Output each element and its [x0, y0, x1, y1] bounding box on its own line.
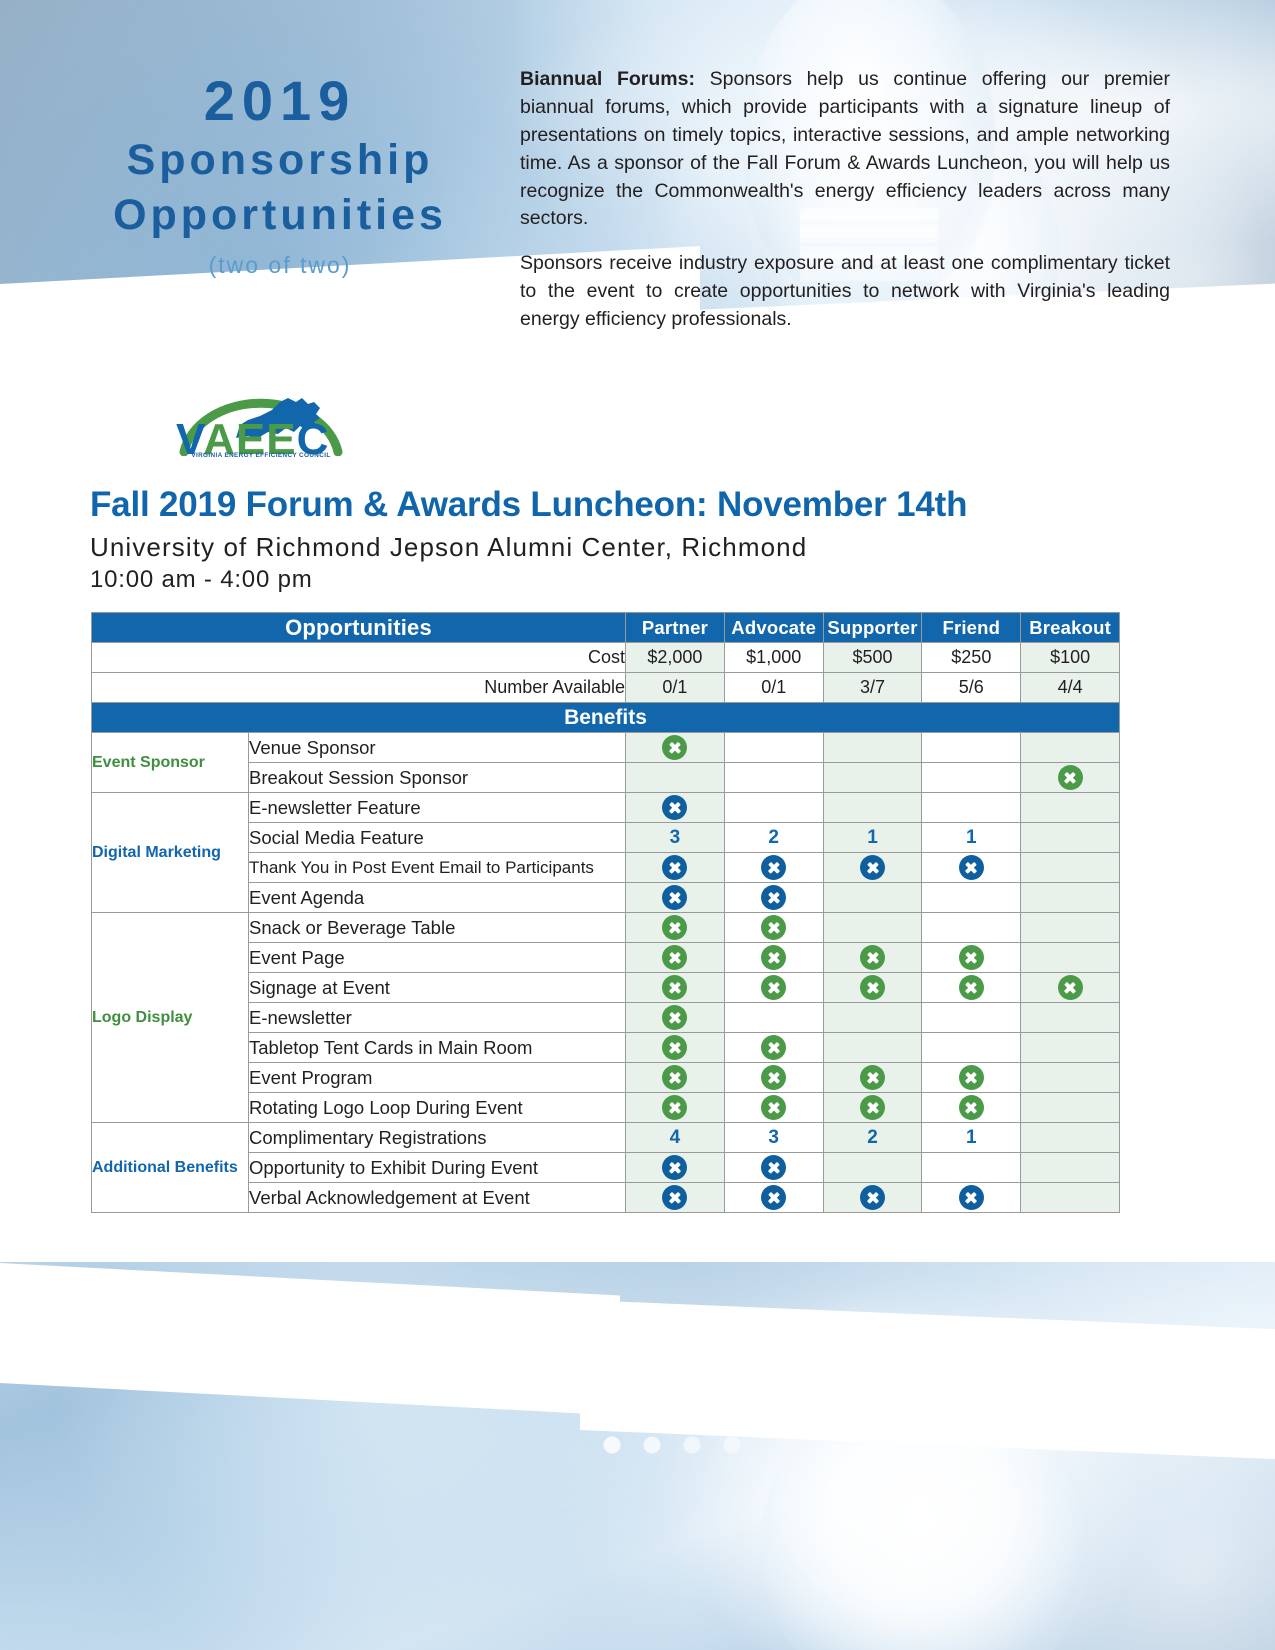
benefit-cell [823, 973, 922, 1003]
check-badge-icon [761, 1035, 786, 1060]
title-line-2: Opportunities [60, 190, 500, 241]
sponsorship-table-wrap: Opportunities Partner Advocate Supporter… [91, 612, 1119, 1213]
benefit-cell [922, 1153, 1021, 1183]
benefit-cell [823, 1003, 922, 1033]
avail-friend: 5/6 [922, 673, 1021, 703]
benefit-label: Complimentary Registrations [249, 1123, 626, 1153]
event-heading-block: Fall 2019 Forum & Awards Luncheon: Novem… [90, 484, 1150, 595]
cost-row: Cost $2,000 $1,000 $500 $250 $100 [92, 643, 1120, 673]
benefit-cell [1021, 913, 1120, 943]
benefit-cell [626, 1033, 725, 1063]
check-badge-icon [662, 945, 687, 970]
benefit-cell [724, 1033, 823, 1063]
benefit-cell [823, 883, 922, 913]
benefit-cell [724, 913, 823, 943]
table-row: Event SponsorVenue Sponsor [92, 733, 1120, 763]
check-badge-icon [860, 945, 885, 970]
check-badge-icon [662, 1035, 687, 1060]
benefit-cell [922, 1183, 1021, 1213]
table-body: Cost $2,000 $1,000 $500 $250 $100 Number… [92, 643, 1120, 1213]
check-badge-icon [860, 1185, 885, 1210]
benefit-cell [724, 1003, 823, 1033]
benefit-cell [922, 763, 1021, 793]
benefit-cell [1021, 883, 1120, 913]
benefit-label: Social Media Feature [249, 823, 626, 853]
check-badge-icon [1058, 975, 1083, 1000]
cost-partner: $2,000 [626, 643, 725, 673]
benefit-label: Opportunity to Exhibit During Event [249, 1153, 626, 1183]
check-badge-icon [1058, 765, 1083, 790]
benefit-label: Event Agenda [249, 883, 626, 913]
benefit-cell [1021, 973, 1120, 1003]
benefit-cell [823, 853, 922, 883]
number-available-row: Number Available 0/1 0/1 3/7 5/6 4/4 [92, 673, 1120, 703]
benefit-count: 2 [867, 1127, 878, 1148]
event-time: 10:00 am - 4:00 pm [90, 566, 1150, 595]
benefit-label: Snack or Beverage Table [249, 913, 626, 943]
check-badge-icon [959, 945, 984, 970]
benefit-cell [1021, 763, 1120, 793]
benefit-cell [1021, 733, 1120, 763]
check-badge-icon [662, 855, 687, 880]
benefit-cell [922, 1063, 1021, 1093]
benefit-cell [823, 1093, 922, 1123]
table-row: Additional BenefitsComplimentary Registr… [92, 1123, 1120, 1153]
benefit-cell [922, 733, 1021, 763]
benefit-label: Rotating Logo Loop During Event [249, 1093, 626, 1123]
benefit-label: Verbal Acknowledgement at Event [249, 1183, 626, 1213]
avail-breakout: 4/4 [1021, 673, 1120, 703]
benefit-label: Tabletop Tent Cards in Main Room [249, 1033, 626, 1063]
cost-breakout: $100 [1021, 643, 1120, 673]
cost-advocate: $1,000 [724, 643, 823, 673]
check-badge-icon [662, 1185, 687, 1210]
check-badge-icon [959, 855, 984, 880]
benefit-cell: 2 [823, 1123, 922, 1153]
benefit-cell [1021, 1153, 1120, 1183]
benefit-cell: 3 [724, 1123, 823, 1153]
benefit-cell [922, 913, 1021, 943]
benefit-label: Venue Sponsor [249, 733, 626, 763]
check-badge-icon [761, 1065, 786, 1090]
table-header-row: Opportunities Partner Advocate Supporter… [92, 613, 1120, 643]
check-badge-icon [662, 915, 687, 940]
benefit-cell [922, 1093, 1021, 1123]
check-badge-icon [959, 1185, 984, 1210]
avail-supporter: 3/7 [823, 673, 922, 703]
header-tier-partner: Partner [626, 613, 725, 643]
check-badge-icon [761, 855, 786, 880]
check-badge-icon [761, 945, 786, 970]
header-tier-supporter: Supporter [823, 613, 922, 643]
benefit-cell [1021, 1063, 1120, 1093]
benefit-cell [922, 943, 1021, 973]
table-row: Logo DisplaySnack or Beverage Table [92, 913, 1120, 943]
benefit-cell [1021, 943, 1120, 973]
benefit-cell [1021, 1033, 1120, 1063]
benefit-label: Thank You in Post Event Email to Partici… [249, 853, 626, 883]
benefit-count: 1 [867, 827, 878, 848]
benefit-cell [823, 763, 922, 793]
benefit-cell: 2 [724, 823, 823, 853]
benefit-cell [823, 1183, 922, 1213]
check-badge-icon [959, 975, 984, 1000]
check-badge-icon [761, 1095, 786, 1120]
benefit-cell [724, 1063, 823, 1093]
header-tier-advocate: Advocate [724, 613, 823, 643]
benefit-cell [1021, 1123, 1120, 1153]
benefit-cell [724, 883, 823, 913]
benefit-category-logo-display: Logo Display [92, 913, 249, 1123]
benefit-cell [724, 1183, 823, 1213]
benefit-cell: 4 [626, 1123, 725, 1153]
intro-column: Biannual Forums: Sponsors help us contin… [520, 66, 1170, 351]
check-badge-icon [860, 1095, 885, 1120]
avail-advocate: 0/1 [724, 673, 823, 703]
benefit-cell: 1 [823, 823, 922, 853]
benefit-cell [626, 913, 725, 943]
intro-lead-label: Biannual Forums: [520, 68, 695, 90]
benefit-cell [724, 763, 823, 793]
benefit-cell [626, 1153, 725, 1183]
benefit-cell [626, 763, 725, 793]
table-head: Opportunities Partner Advocate Supporter… [92, 613, 1120, 643]
check-badge-icon [761, 1185, 786, 1210]
benefit-cell: 1 [922, 1123, 1021, 1153]
title-line-1: Sponsorship [60, 135, 500, 186]
benefit-cell [724, 793, 823, 823]
benefit-cell [1021, 853, 1120, 883]
check-badge-icon [662, 1005, 687, 1030]
title-year: 2019 [60, 72, 500, 131]
benefit-cell [1021, 823, 1120, 853]
event-title: Fall 2019 Forum & Awards Luncheon: Novem… [90, 484, 1150, 525]
benefit-label: Event Program [249, 1063, 626, 1093]
benefit-category-event-sponsor: Event Sponsor [92, 733, 249, 793]
benefit-cell [823, 943, 922, 973]
benefit-cell [1021, 793, 1120, 823]
benefit-label: Event Page [249, 943, 626, 973]
benefit-cell [626, 1063, 725, 1093]
table-row: Digital MarketingE-newsletter Feature [92, 793, 1120, 823]
event-venue: University of Richmond Jepson Alumni Cen… [90, 532, 1150, 563]
logo-wordmark: VAEEC [176, 415, 329, 456]
logo-tagline: VIRGINIA ENERGY EFFICIENCY COUNCIL [168, 452, 354, 459]
benefit-cell [724, 943, 823, 973]
benefit-cell [1021, 1183, 1120, 1213]
benefit-cell [724, 1153, 823, 1183]
vaeec-logo: VAEEC VIRGINIA ENERGY EFFICIENCY COUNCIL [168, 378, 354, 468]
check-badge-icon [860, 855, 885, 880]
check-badge-icon [761, 885, 786, 910]
benefit-label: E-newsletter Feature [249, 793, 626, 823]
benefit-category-digital-marketing: Digital Marketing [92, 793, 249, 913]
benefit-cell [823, 1063, 922, 1093]
benefit-cell [922, 1033, 1021, 1063]
benefit-cell [823, 793, 922, 823]
benefit-label: Signage at Event [249, 973, 626, 1003]
page-title: 2019 Sponsorship Opportunities (two of t… [60, 72, 500, 279]
avail-partner: 0/1 [626, 673, 725, 703]
benefit-cell [626, 943, 725, 973]
intro-paragraph-1: Biannual Forums: Sponsors help us contin… [520, 66, 1170, 233]
cost-supporter: $500 [823, 643, 922, 673]
benefit-cell [724, 733, 823, 763]
benefit-cell [626, 1003, 725, 1033]
check-badge-icon [761, 915, 786, 940]
vaeec-logo-svg: VAEEC [168, 378, 354, 456]
check-badge-icon [662, 975, 687, 1000]
benefit-cell [823, 1033, 922, 1063]
intro-paragraph-2: Sponsors receive industry exposure and a… [520, 250, 1170, 334]
benefit-cell [823, 733, 922, 763]
benefit-cell [626, 973, 725, 1003]
benefit-cell [626, 883, 725, 913]
benefit-cell [626, 1093, 725, 1123]
benefit-cell [724, 973, 823, 1003]
number-available-label: Number Available [92, 673, 626, 703]
header-opportunities: Opportunities [92, 613, 626, 643]
benefit-count: 2 [768, 827, 779, 848]
cost-friend: $250 [922, 643, 1021, 673]
benefit-cell [626, 793, 725, 823]
benefit-cell [823, 913, 922, 943]
check-badge-icon [662, 1155, 687, 1180]
check-badge-icon [662, 1065, 687, 1090]
benefit-cell [626, 1183, 725, 1213]
benefit-cell [1021, 1093, 1120, 1123]
benefit-cell [724, 853, 823, 883]
benefit-label: Breakout Session Sponsor [249, 763, 626, 793]
header-zone: 2019 Sponsorship Opportunities (two of t… [0, 0, 1275, 352]
benefit-cell [626, 733, 725, 763]
benefit-cell [922, 883, 1021, 913]
benefit-cell [1021, 1003, 1120, 1033]
check-badge-icon [959, 1065, 984, 1090]
check-badge-icon [860, 975, 885, 1000]
check-badge-icon [860, 1065, 885, 1090]
benefit-cell [922, 973, 1021, 1003]
benefits-divider-row: Benefits [92, 703, 1120, 733]
title-subtitle: (two of two) [60, 252, 500, 279]
benefit-count: 4 [670, 1127, 681, 1148]
benefit-cell [724, 1093, 823, 1123]
benefit-category-additional-benefits: Additional Benefits [92, 1123, 249, 1213]
benefit-cell [922, 793, 1021, 823]
benefit-count: 3 [768, 1127, 779, 1148]
benefit-count: 1 [966, 1127, 977, 1148]
cost-label: Cost [92, 643, 626, 673]
sponsorship-table: Opportunities Partner Advocate Supporter… [91, 612, 1120, 1213]
benefit-label: E-newsletter [249, 1003, 626, 1033]
check-badge-icon [662, 1095, 687, 1120]
benefits-bar-label: Benefits [92, 703, 1120, 733]
benefit-cell [922, 853, 1021, 883]
check-badge-icon [662, 735, 687, 760]
check-badge-icon [761, 975, 786, 1000]
check-badge-icon [662, 885, 687, 910]
benefit-count: 3 [670, 827, 681, 848]
check-badge-icon [959, 1095, 984, 1120]
benefit-cell [823, 1153, 922, 1183]
header-tier-friend: Friend [922, 613, 1021, 643]
header-tier-breakout: Breakout [1021, 613, 1120, 643]
benefit-cell [626, 853, 725, 883]
benefit-cell: 3 [626, 823, 725, 853]
intro-paragraph-1-body: Sponsors help us continue offering our p… [520, 68, 1170, 229]
benefit-count: 1 [966, 827, 977, 848]
check-badge-icon [761, 1155, 786, 1180]
benefit-cell: 1 [922, 823, 1021, 853]
check-badge-icon [662, 795, 687, 820]
benefit-cell [922, 1003, 1021, 1033]
